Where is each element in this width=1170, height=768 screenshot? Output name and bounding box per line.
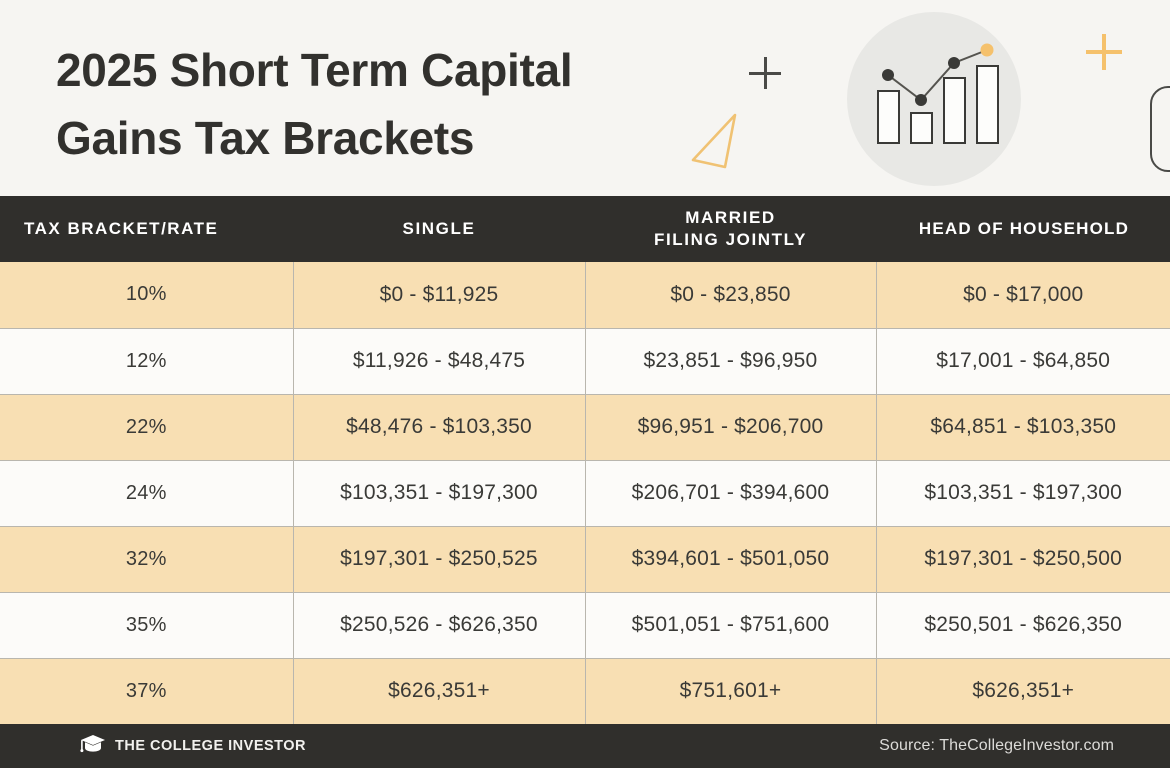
cell-rate: 37% [0, 658, 293, 724]
page-title: 2025 Short Term Capital Gains Tax Bracke… [56, 36, 716, 172]
rounded-rectangle-outline-icon [1150, 86, 1170, 172]
cell-married-filing-jointly: $206,701 - $394,600 [585, 460, 876, 526]
cell-married-filing-jointly: $96,951 - $206,700 [585, 394, 876, 460]
table-header-row: TAX BRACKET/RATE SINGLE MARRIED FILING J… [0, 196, 1170, 262]
cell-single: $103,351 - $197,300 [293, 460, 585, 526]
source-attribution: Source: TheCollegeInvestor.com [879, 737, 1114, 755]
cell-head-of-household: $626,351+ [876, 658, 1170, 724]
table-row: 12% $11,926 - $48,475 $23,851 - $96,950 … [0, 328, 1170, 394]
cell-married-filing-jointly: $751,601+ [585, 658, 876, 724]
tax-brackets-table: TAX BRACKET/RATE SINGLE MARRIED FILING J… [0, 196, 1170, 724]
cell-single: $626,351+ [293, 658, 585, 724]
column-header-tax-bracket-rate: TAX BRACKET/RATE [0, 196, 293, 262]
cell-rate: 22% [0, 394, 293, 460]
table-body: 10% $0 - $11,925 $0 - $23,850 $0 - $17,0… [0, 262, 1170, 724]
footer-bar: THE COLLEGE INVESTOR Source: TheCollegeI… [0, 724, 1170, 768]
header-banner: 2025 Short Term Capital Gains Tax Bracke… [0, 0, 1170, 196]
page-title-line-2: Gains Tax Brackets [56, 104, 716, 172]
cell-rate: 10% [0, 262, 293, 328]
cell-single: $250,526 - $626,350 [293, 592, 585, 658]
cell-single: $48,476 - $103,350 [293, 394, 585, 460]
cell-head-of-household: $103,351 - $197,300 [876, 460, 1170, 526]
brand-name: THE COLLEGE INVESTOR [115, 738, 306, 754]
cell-married-filing-jointly: $23,851 - $96,950 [585, 328, 876, 394]
column-header-head-of-household: HEAD OF HOUSEHOLD [876, 196, 1170, 262]
cell-head-of-household: $17,001 - $64,850 [876, 328, 1170, 394]
cell-head-of-household: $197,301 - $250,500 [876, 526, 1170, 592]
cell-head-of-household: $64,851 - $103,350 [876, 394, 1170, 460]
cell-single: $197,301 - $250,525 [293, 526, 585, 592]
cell-head-of-household: $250,501 - $626,350 [876, 592, 1170, 658]
column-header-married-filing-jointly: MARRIED FILING JOINTLY [585, 196, 876, 262]
bar-line-chart-badge-icon [847, 12, 1021, 186]
cell-head-of-household: $0 - $17,000 [876, 262, 1170, 328]
cell-single: $11,926 - $48,475 [293, 328, 585, 394]
page-title-line-1: 2025 Short Term Capital [56, 36, 716, 104]
table-row: 24% $103,351 - $197,300 $206,701 - $394,… [0, 460, 1170, 526]
table-row: 37% $626,351+ $751,601+ $626,351+ [0, 658, 1170, 724]
table-row: 10% $0 - $11,925 $0 - $23,850 $0 - $17,0… [0, 262, 1170, 328]
cell-rate: 12% [0, 328, 293, 394]
table-row: 22% $48,476 - $103,350 $96,951 - $206,70… [0, 394, 1170, 460]
plus-orange-icon [1086, 34, 1122, 70]
table-header: TAX BRACKET/RATE SINGLE MARRIED FILING J… [0, 196, 1170, 262]
cell-married-filing-jointly: $501,051 - $751,600 [585, 592, 876, 658]
cell-rate: 32% [0, 526, 293, 592]
plus-dark-icon [749, 57, 781, 89]
table-row: 32% $197,301 - $250,525 $394,601 - $501,… [0, 526, 1170, 592]
cell-rate: 24% [0, 460, 293, 526]
cell-rate: 35% [0, 592, 293, 658]
cell-married-filing-jointly: $0 - $23,850 [585, 262, 876, 328]
table-row: 35% $250,526 - $626,350 $501,051 - $751,… [0, 592, 1170, 658]
brand-logo: THE COLLEGE INVESTOR [80, 734, 306, 759]
cell-single: $0 - $11,925 [293, 262, 585, 328]
triangle-outline-icon [690, 112, 746, 170]
graduation-cap-icon [80, 734, 106, 759]
cell-married-filing-jointly: $394,601 - $501,050 [585, 526, 876, 592]
column-header-single: SINGLE [293, 196, 585, 262]
